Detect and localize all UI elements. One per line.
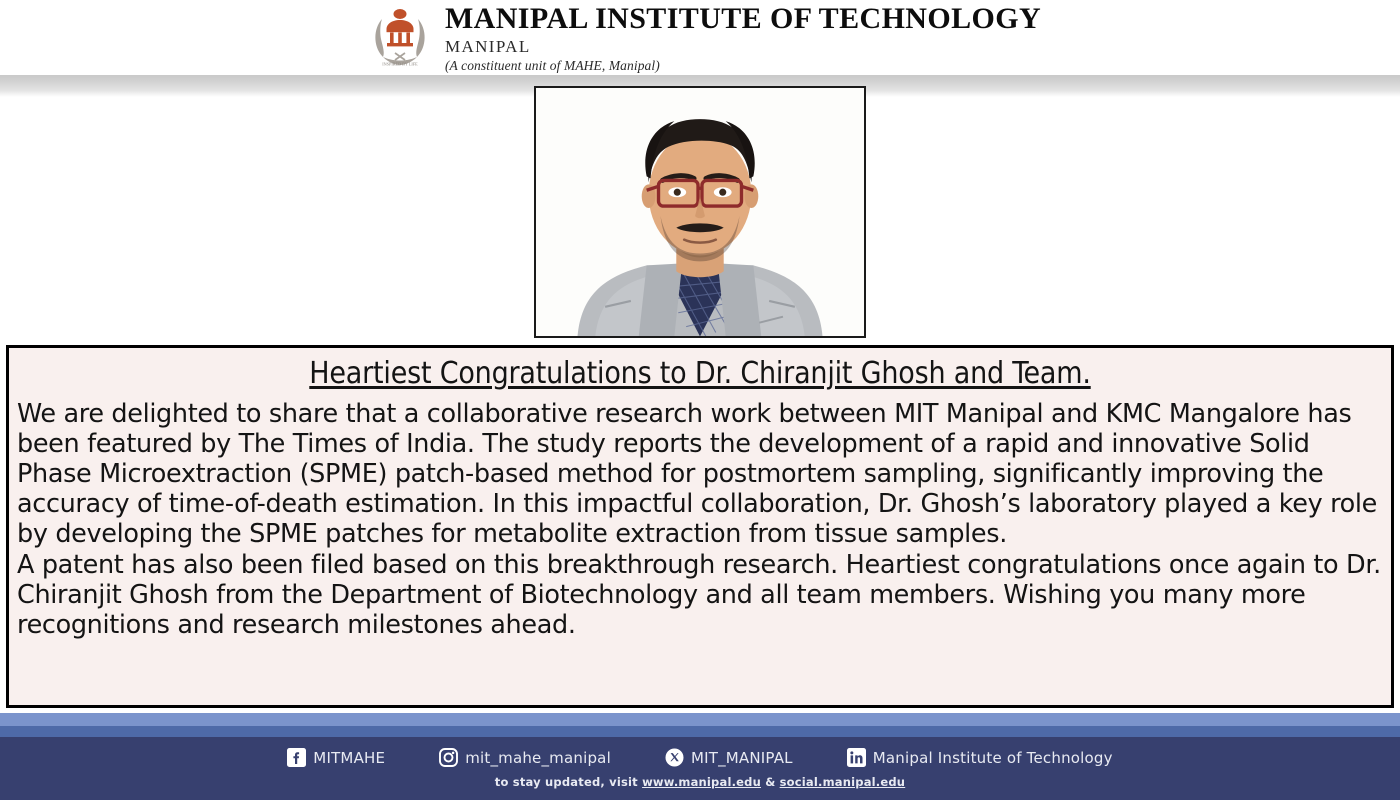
x-twitter-handle: MIT_MANIPAL: [691, 749, 793, 767]
footer-band-light: [0, 713, 1400, 726]
institute-subtitle: (A constituent unit of MAHE, Manipal): [445, 58, 1041, 74]
footer-band-dark: MITMAHE mit_mahe_manipal: [0, 737, 1400, 800]
announcement-paragraph-2: A patent has also been filed based on th…: [17, 550, 1383, 641]
facebook-handle: MITMAHE: [313, 749, 385, 767]
announcement-panel: Heartiest Congratulations to Dr. Chiranj…: [6, 345, 1394, 708]
instagram-icon: [439, 748, 458, 767]
footer-note-separator: &: [761, 775, 780, 789]
footer: MITMAHE mit_mahe_manipal: [0, 713, 1400, 800]
social-link-linkedin[interactable]: Manipal Institute of Technology: [847, 748, 1113, 767]
institute-city: MANIPAL: [445, 36, 1041, 57]
facebook-icon: [287, 748, 306, 767]
announcement-paragraph-1: We are delighted to share that a collabo…: [17, 399, 1383, 550]
portrait-area: [0, 75, 1400, 337]
portrait-photo: [536, 88, 864, 336]
institute-text-block: MANIPAL INSTITUTE OF TECHNOLOGY MANIPAL …: [445, 1, 1041, 75]
instagram-handle: mit_mahe_manipal: [465, 749, 611, 767]
institute-header: INSPIRED BY LIFE MANIPAL INSTITUTE OF TE…: [0, 0, 1400, 75]
social-link-instagram[interactable]: mit_mahe_manipal: [439, 748, 611, 767]
portrait-frame: [534, 86, 866, 338]
linkedin-handle: Manipal Institute of Technology: [873, 749, 1113, 767]
header-inner: INSPIRED BY LIFE MANIPAL INSTITUTE OF TE…: [359, 1, 1041, 75]
page-title: Heartiest Congratulations to Dr. Chiranj…: [17, 354, 1383, 395]
social-link-facebook[interactable]: MITMAHE: [287, 748, 385, 767]
footer-band-mid: [0, 726, 1400, 737]
manipal-crest-torch-laurel-icon: INSPIRED BY LIFE: [369, 3, 431, 69]
linkedin-icon: [847, 748, 866, 767]
svg-text:INSPIRED BY LIFE: INSPIRED BY LIFE: [382, 61, 418, 66]
footer-url-social-manipal[interactable]: social.manipal.edu: [780, 775, 906, 789]
social-links: MITMAHE mit_mahe_manipal: [287, 748, 1112, 767]
social-link-x-twitter[interactable]: MIT_MANIPAL: [665, 748, 793, 767]
footer-note: to stay updated, visit www.manipal.edu &…: [495, 775, 905, 789]
footer-url-manipal[interactable]: www.manipal.edu: [642, 775, 761, 789]
footer-note-prefix: to stay updated, visit: [495, 775, 642, 789]
x-twitter-icon: [665, 748, 684, 767]
institute-name: MANIPAL INSTITUTE OF TECHNOLOGY: [445, 4, 1041, 35]
